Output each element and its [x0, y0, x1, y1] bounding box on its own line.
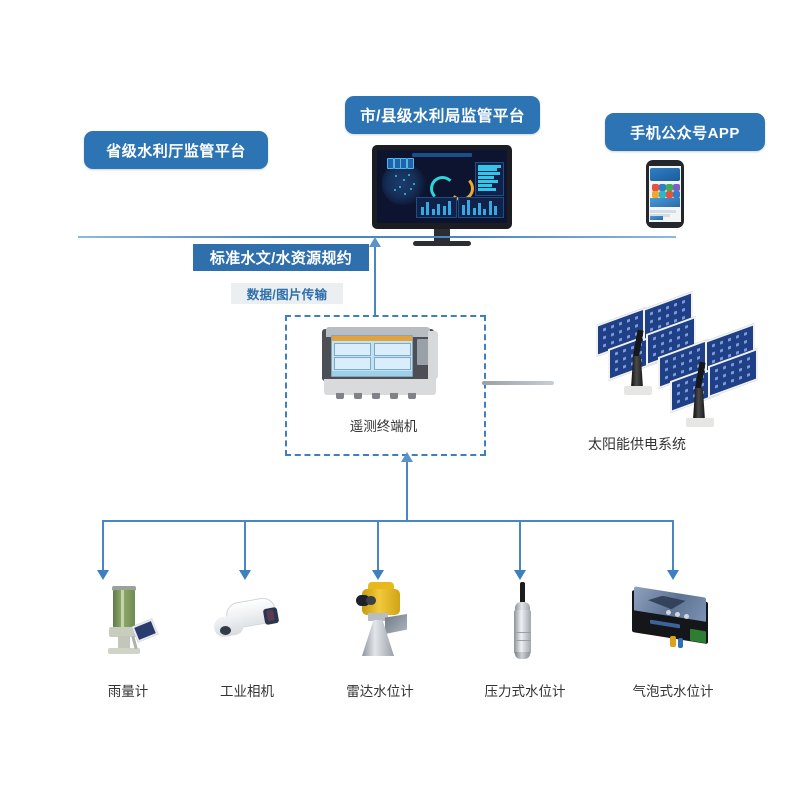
sensor-to-rtu-line	[406, 462, 408, 522]
rtu-label-text: 遥测终端机	[350, 419, 418, 434]
protocol-sublabel: 数据/图片传输	[231, 283, 343, 304]
sensor-label-camera: 工业相机	[205, 680, 289, 700]
sensor-drop-5	[672, 520, 674, 572]
platform-provincial[interactable]: 省级水利厅监管平台	[84, 131, 268, 169]
solar-power-label: 太阳能供电系统	[588, 434, 728, 454]
monitor-icon	[372, 145, 512, 225]
antenna-icon	[482, 381, 554, 385]
sensor-label-pressure-text: 压力式水位计	[485, 684, 566, 699]
pressure-probe-icon	[508, 582, 538, 660]
radar-level-icon	[348, 582, 412, 660]
phone-icon	[646, 160, 684, 228]
sensor-drop-1	[102, 520, 104, 572]
platform-provincial-label: 省级水利厅监管平台	[106, 140, 246, 161]
sensor-label-radar-text: 雷达水位计	[346, 684, 414, 699]
camera-icon	[212, 596, 282, 648]
sensor-drop-3	[377, 520, 379, 572]
platform-municipal-label: 市/县级水利局监管平台	[360, 104, 525, 126]
protocol-sublabel-text: 数据/图片传输	[247, 284, 328, 303]
sensor-label-rain-gauge: 雨量计	[73, 680, 183, 700]
sensor-label-bubbler: 气泡式水位计	[608, 680, 738, 700]
solar-power-label-text: 太阳能供电系统	[588, 436, 686, 452]
sensor-arrow-1-icon	[97, 570, 109, 580]
sensor-label-camera-text: 工业相机	[220, 684, 274, 699]
sensor-drop-2	[244, 520, 246, 572]
sensor-drop-4	[519, 520, 521, 572]
uplink-line	[374, 246, 376, 315]
sensor-label-rain-gauge-text: 雨量计	[108, 684, 149, 699]
sensor-arrow-3-icon	[372, 570, 384, 580]
sensor-label-pressure: 压力式水位计	[460, 680, 590, 700]
solar-panel-icon	[588, 300, 773, 440]
rtu-label: 遥测终端机	[285, 415, 482, 435]
uplink-arrow-icon	[369, 237, 381, 247]
sensor-arrow-5-icon	[667, 570, 679, 580]
bubbler-icon	[626, 588, 716, 654]
sensor-arrow-2-icon	[239, 570, 251, 580]
platform-mobile[interactable]: 手机公众号APP	[605, 113, 765, 151]
platform-mobile-label: 手机公众号APP	[630, 122, 740, 143]
sensor-to-rtu-arrow-icon	[401, 452, 413, 462]
sensor-bus-line	[102, 520, 674, 522]
protocol-label: 标准水文/水资源规约	[193, 244, 369, 271]
sensor-arrow-4-icon	[514, 570, 526, 580]
rtu-icon	[322, 327, 444, 399]
sensor-label-bubbler-text: 气泡式水位计	[633, 684, 714, 699]
platform-municipal[interactable]: 市/县级水利局监管平台	[345, 96, 540, 134]
sensor-label-radar: 雷达水位计	[328, 680, 432, 700]
protocol-label-text: 标准水文/水资源规约	[210, 247, 352, 268]
rain-gauge-icon	[96, 586, 158, 656]
